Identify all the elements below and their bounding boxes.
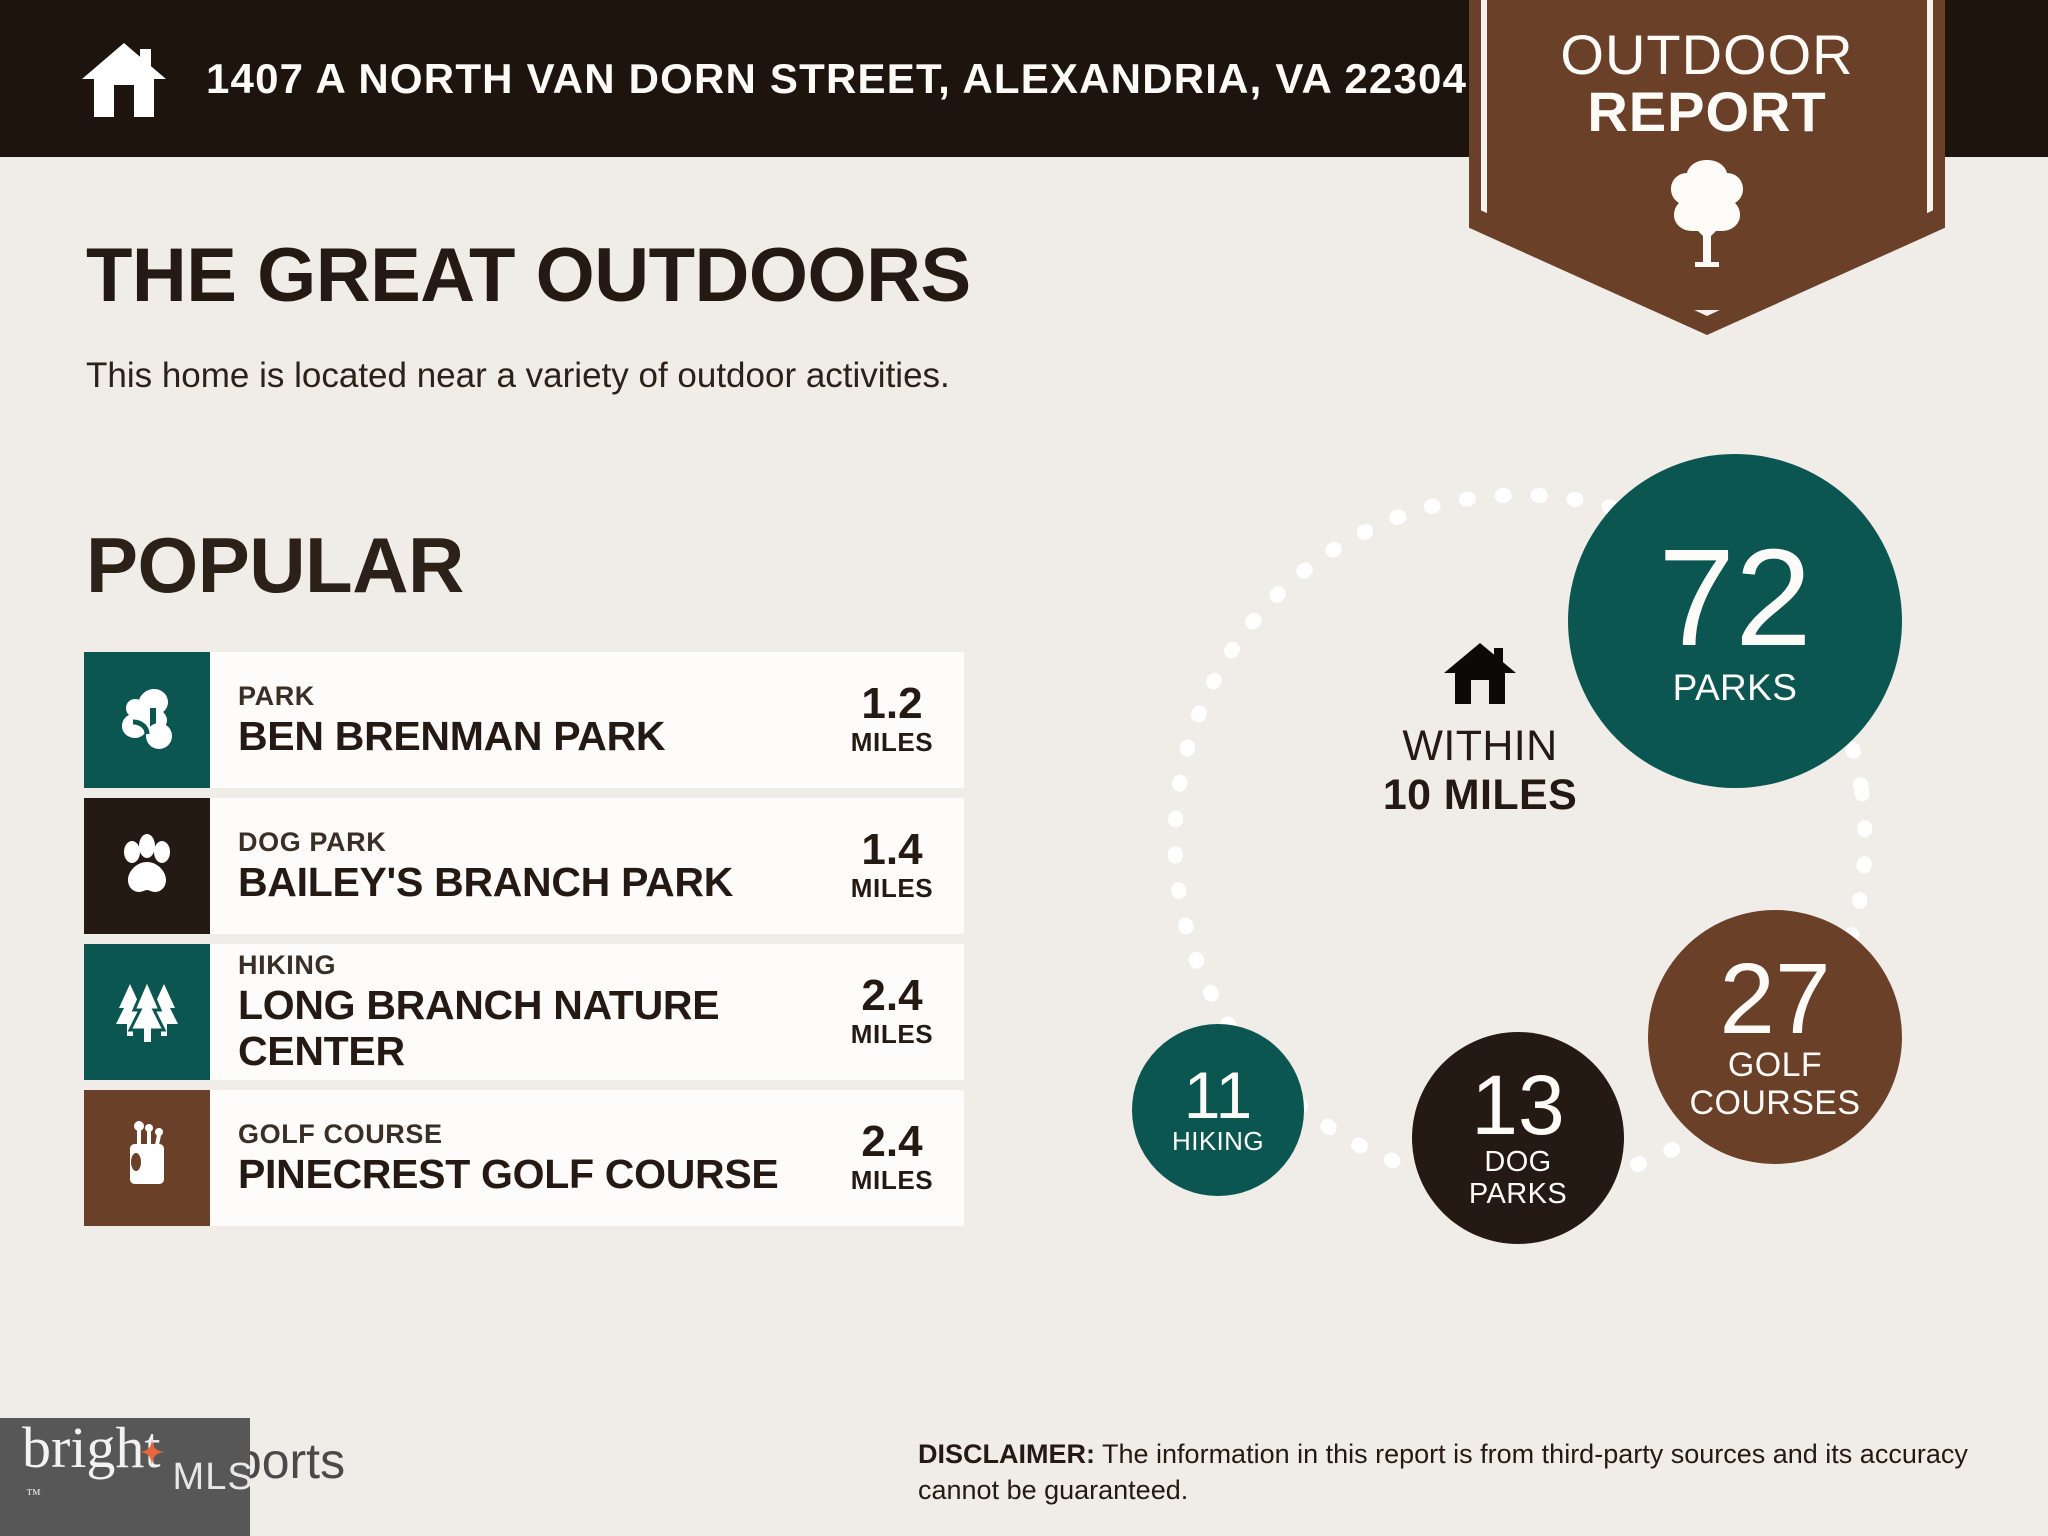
poi-text: GOLF COURSE PINECREST GOLF COURSE (210, 1090, 834, 1226)
page-title: THE GREAT OUTDOORS (86, 232, 971, 319)
outdoor-report-badge: OUTDOOR REPORT (1469, 0, 1945, 335)
disclaimer-label: DISCLAIMER: (918, 1439, 1095, 1469)
bright-wordmark: bright ™ (22, 1419, 161, 1535)
poi-distance-value: 2.4 (861, 974, 922, 1019)
center-within-label: WITHIN (1402, 722, 1557, 771)
stat-label-line1: GOLF (1728, 1048, 1822, 1084)
stat-label-line2: PARKS (1469, 1179, 1567, 1209)
diagram-center: WITHIN 10 MILES (1350, 640, 1610, 820)
stat-label-line1: DOG (1484, 1147, 1551, 1177)
poi-icon-tile (84, 798, 210, 934)
stat-bubble-parks[interactable]: 72 PARKS (1568, 454, 1902, 788)
poi-category: GOLF COURSE (238, 1118, 834, 1152)
stat-label: HIKING (1172, 1128, 1264, 1155)
home-icon (1442, 640, 1518, 706)
stat-label-line2: COURSES (1690, 1086, 1861, 1122)
tree-icon (1665, 156, 1749, 268)
outdoor-stats-diagram: 72 PARKS 27 GOLF COURSES 13 DOG PARKS 11… (1090, 440, 2030, 1340)
list-item[interactable]: GOLF COURSE PINECREST GOLF COURSE 2.4 MI… (84, 1090, 964, 1226)
poi-distance: 2.4 MILES (834, 1090, 964, 1226)
poi-distance-unit: MILES (851, 727, 933, 758)
stat-value: 11 (1184, 1064, 1253, 1126)
property-address: 1407 A NORTH VAN DORN STREET, ALEXANDRIA… (206, 55, 1467, 103)
poi-distance: 1.2 MILES (834, 652, 964, 788)
poi-icon-tile (84, 944, 210, 1080)
pine-trees-icon (111, 974, 183, 1051)
stat-value: 13 (1471, 1066, 1564, 1145)
popular-list: PARK BEN BRENMAN PARK 1.2 MILES DOG PARK… (84, 652, 964, 1236)
home-icon (78, 39, 170, 119)
bright-mls-logo: bright ™ MLS (0, 1418, 250, 1536)
poi-name: PINECREST GOLF COURSE (238, 1152, 834, 1198)
stat-bubble-hiking[interactable]: 11 HIKING (1132, 1024, 1304, 1196)
poi-distance-value: 1.4 (861, 828, 922, 873)
poi-category: HIKING (238, 949, 834, 983)
star-icon (139, 1417, 165, 1443)
stat-bubble-golf-courses[interactable]: 27 GOLF COURSES (1648, 910, 1902, 1164)
poi-name: LONG BRANCH NATURE CENTER (238, 983, 834, 1075)
badge-title-line1: OUTDOOR (1560, 26, 1853, 83)
page-subtitle: This home is located near a variety of o… (86, 356, 950, 396)
poi-icon-tile (84, 652, 210, 788)
list-item[interactable]: PARK BEN BRENMAN PARK 1.2 MILES (84, 652, 964, 788)
poi-category: PARK (238, 680, 834, 714)
center-distance-label: 10 MILES (1383, 771, 1577, 820)
trademark-symbol: ™ (26, 1487, 41, 1503)
stat-value: 72 (1658, 534, 1812, 664)
poi-distance: 2.4 MILES (834, 944, 964, 1080)
paw-print-icon (111, 828, 183, 905)
poi-distance: 1.4 MILES (834, 798, 964, 934)
poi-distance-unit: MILES (851, 1019, 933, 1050)
popular-section-heading: POPULAR (86, 520, 464, 611)
poi-text: DOG PARK BAILEY'S BRANCH PARK (210, 798, 834, 934)
poi-text: HIKING LONG BRANCH NATURE CENTER (210, 944, 834, 1080)
poi-distance-unit: MILES (851, 873, 933, 904)
disclaimer: DISCLAIMER: The information in this repo… (918, 1437, 1988, 1508)
golf-bag-icon (111, 1120, 183, 1197)
poi-name: BEN BRENMAN PARK (238, 714, 834, 760)
stat-bubble-dog-parks[interactable]: 13 DOG PARKS (1412, 1032, 1624, 1244)
list-item[interactable]: DOG PARK BAILEY'S BRANCH PARK 1.4 MILES (84, 798, 964, 934)
mls-wordmark: MLS (173, 1456, 254, 1499)
poi-icon-tile (84, 1090, 210, 1226)
poi-text: PARK BEN BRENMAN PARK (210, 652, 834, 788)
poi-category: DOG PARK (238, 826, 834, 860)
poi-distance-value: 2.4 (861, 1120, 922, 1165)
stat-value: 27 (1719, 952, 1830, 1046)
poi-name: BAILEY'S BRANCH PARK (238, 860, 834, 906)
badge-title-line2: REPORT (1587, 83, 1826, 140)
poi-distance-unit: MILES (851, 1165, 933, 1196)
stat-label: PARKS (1673, 669, 1798, 708)
poi-distance-value: 1.2 (861, 682, 922, 727)
park-tree-icon (111, 682, 183, 759)
list-item[interactable]: HIKING LONG BRANCH NATURE CENTER 2.4 MIL… (84, 944, 964, 1080)
